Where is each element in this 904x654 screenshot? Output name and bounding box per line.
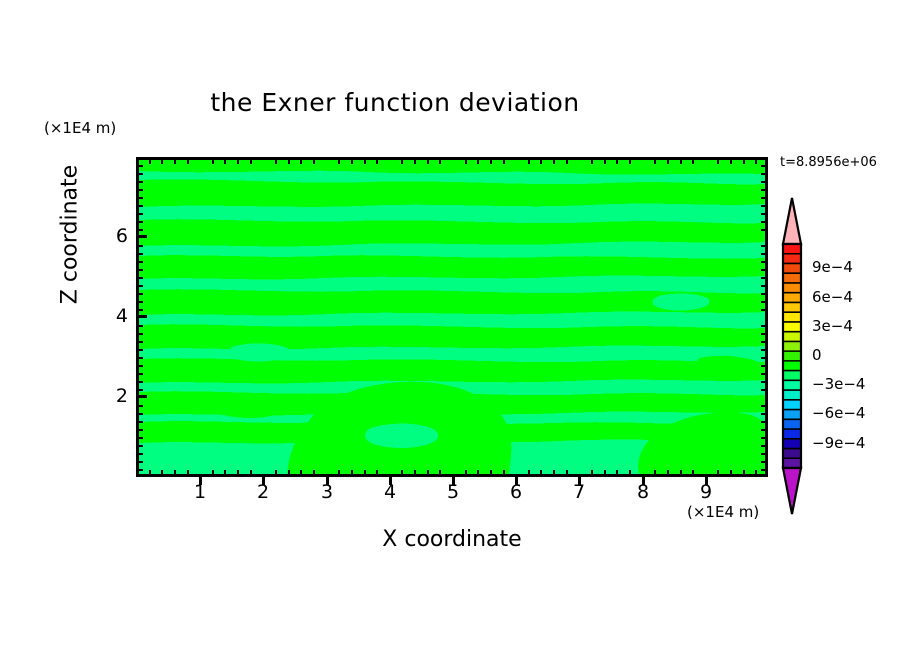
- x-tick-minor: [288, 157, 290, 164]
- x-tick-minor: [503, 157, 505, 164]
- y-tick-minor: [136, 173, 143, 175]
- x-tick-minor: [566, 470, 568, 477]
- x-tick-minor: [376, 157, 378, 164]
- x-tick-minor: [237, 157, 239, 164]
- x-tick-minor: [755, 470, 757, 477]
- x-tick-minor: [528, 470, 530, 477]
- x-tick-minor: [755, 157, 757, 164]
- y-tick-minor: [761, 253, 768, 255]
- x-tick-label: 8: [623, 481, 663, 503]
- x-tick-minor: [275, 157, 277, 164]
- y-tick-minor: [136, 245, 143, 247]
- x-tick-minor: [338, 470, 340, 477]
- y-tick-minor: [136, 381, 143, 383]
- colorbar-band: [783, 410, 801, 420]
- x-tick-minor: [149, 157, 151, 164]
- colorbar[interactable]: [781, 196, 803, 516]
- x-tick-minor: [680, 470, 682, 477]
- x-tick-minor: [427, 470, 429, 477]
- colorbar-band: [783, 322, 801, 332]
- colorbar-band: [783, 263, 801, 273]
- y-tick-minor: [136, 469, 143, 471]
- y-tick-minor: [761, 437, 768, 439]
- x-tick-minor: [237, 470, 239, 477]
- colorbar-over-arrow: [783, 198, 801, 244]
- colorbar-band: [783, 371, 801, 381]
- x-tick-minor: [654, 470, 656, 477]
- y-tick-minor: [761, 357, 768, 359]
- colorbar-band: [783, 380, 801, 390]
- x-tick-minor: [743, 470, 745, 477]
- y-tick-minor: [761, 413, 768, 415]
- y-tick-minor: [761, 453, 768, 455]
- y-tick-minor: [761, 309, 768, 311]
- y-tick-minor: [761, 381, 768, 383]
- y-tick-minor: [136, 277, 143, 279]
- x-tick-minor: [288, 470, 290, 477]
- y-tick-minor: [761, 277, 768, 279]
- colorbar-band: [783, 341, 801, 351]
- y-tick-minor: [136, 229, 143, 231]
- x-tick-minor: [313, 157, 315, 164]
- x-tick-minor: [503, 470, 505, 477]
- y-tick-minor: [761, 181, 768, 183]
- y-tick-label: 2: [88, 385, 128, 407]
- y-tick-minor: [761, 405, 768, 407]
- y-tick-minor: [136, 341, 143, 343]
- y-tick-minor: [761, 221, 768, 223]
- y-tick-minor: [136, 261, 143, 263]
- y-tick-minor: [761, 205, 768, 207]
- colorbar-band: [783, 293, 801, 303]
- y-tick-minor: [136, 413, 143, 415]
- y-tick-minor: [761, 373, 768, 375]
- y-tick-minor: [136, 389, 143, 391]
- colorbar-band: [783, 361, 801, 371]
- x-tick-minor: [477, 157, 479, 164]
- colorbar-tick-label: 3e−4: [812, 317, 853, 335]
- x-tick-minor: [528, 157, 530, 164]
- x-tick-minor: [692, 157, 694, 164]
- colorbar-band: [783, 449, 801, 459]
- y-tick-minor: [761, 229, 768, 231]
- x-tick-label: 6: [496, 481, 536, 503]
- y-tick-minor: [136, 445, 143, 447]
- x-tick-minor: [300, 470, 302, 477]
- x-tick-label: 7: [559, 481, 599, 503]
- colorbar-band: [783, 332, 801, 342]
- colorbar-band: [783, 400, 801, 410]
- x-tick-minor: [680, 157, 682, 164]
- x-tick-minor: [465, 470, 467, 477]
- x-tick-minor: [654, 157, 656, 164]
- y-tick-minor: [136, 373, 143, 375]
- x-tick-minor: [629, 470, 631, 477]
- y-tick-minor: [761, 245, 768, 247]
- x-tick-minor: [364, 470, 366, 477]
- x-tick-minor: [149, 470, 151, 477]
- x-tick-minor: [338, 157, 340, 164]
- x-tick-minor: [414, 470, 416, 477]
- x-tick-minor: [174, 470, 176, 477]
- y-tick-minor: [136, 205, 143, 207]
- x-tick-minor: [187, 470, 189, 477]
- y-tick-minor: [761, 365, 768, 367]
- x-tick-minor: [224, 470, 226, 477]
- x-tick-minor: [667, 470, 669, 477]
- y-tick-minor: [761, 421, 768, 423]
- y-tick-minor: [136, 213, 143, 215]
- y-tick-minor: [761, 325, 768, 327]
- x-tick-minor: [351, 157, 353, 164]
- x-tick-minor: [174, 157, 176, 164]
- y-tick-minor: [136, 461, 143, 463]
- y-tick-minor: [761, 469, 768, 471]
- x-tick-minor: [540, 157, 542, 164]
- x-tick-minor: [616, 470, 618, 477]
- y-axis-title: Z coordinate: [58, 135, 83, 335]
- x-tick-minor: [604, 157, 606, 164]
- colorbar-tick-label: 0: [812, 346, 822, 364]
- x-tick-minor: [692, 470, 694, 477]
- x-tick-minor: [591, 157, 593, 164]
- y-tick-minor: [136, 293, 143, 295]
- colorbar-tick-label: −3e−4: [812, 375, 865, 393]
- x-tick-minor: [553, 157, 555, 164]
- y-tick-minor: [136, 197, 143, 199]
- y-tick-minor: [761, 165, 768, 167]
- x-tick-minor: [540, 470, 542, 477]
- colorbar-band: [783, 390, 801, 400]
- x-tick-minor: [376, 470, 378, 477]
- x-tick-minor: [717, 157, 719, 164]
- x-axis-title: X coordinate: [136, 527, 768, 552]
- y-tick-minor: [136, 429, 143, 431]
- colorbar-tick-label: 9e−4: [812, 258, 853, 276]
- colorbar-band: [783, 244, 801, 254]
- x-tick-label: 4: [370, 481, 410, 503]
- x-tick-minor: [490, 157, 492, 164]
- y-tick-minor: [761, 461, 768, 463]
- colorbar-tick-label: −6e−4: [812, 404, 865, 422]
- y-tick-minor: [761, 285, 768, 287]
- y-tick-minor: [761, 293, 768, 295]
- y-tick-minor: [136, 365, 143, 367]
- x-axis-unit-label: (×1E4 m): [687, 503, 759, 521]
- x-tick-minor: [161, 470, 163, 477]
- colorbar-under-arrow: [783, 468, 801, 514]
- x-tick-minor: [465, 157, 467, 164]
- y-tick-minor: [136, 189, 143, 191]
- y-tick-minor: [136, 453, 143, 455]
- y-tick-minor: [761, 429, 768, 431]
- time-annotation: t=8.8956e+06: [780, 155, 877, 170]
- x-tick-minor: [743, 157, 745, 164]
- y-tick-minor: [761, 349, 768, 351]
- y-tick-minor: [136, 269, 143, 271]
- colorbar-band: [783, 273, 801, 283]
- x-tick-minor: [212, 157, 214, 164]
- x-tick-minor: [313, 470, 315, 477]
- x-tick-minor: [591, 470, 593, 477]
- y-tick-minor: [761, 333, 768, 335]
- colorbar-scale: [781, 196, 803, 516]
- figure-canvas: the Exner function deviation (×1E4 m) t=…: [0, 0, 904, 654]
- x-tick-minor: [401, 157, 403, 164]
- x-tick-minor: [477, 470, 479, 477]
- y-tick-minor: [761, 261, 768, 263]
- colorbar-band: [783, 283, 801, 293]
- y-tick-minor: [761, 189, 768, 191]
- colorbar-band: [783, 351, 801, 361]
- x-tick-minor: [401, 470, 403, 477]
- x-tick-minor: [717, 470, 719, 477]
- page-title: the Exner function deviation: [0, 88, 790, 117]
- y-tick-minor: [136, 165, 143, 167]
- y-tick-minor: [761, 301, 768, 303]
- y-tick-label: 6: [88, 225, 128, 247]
- y-tick-minor: [761, 197, 768, 199]
- x-tick-label: 9: [686, 481, 726, 503]
- x-tick-minor: [427, 157, 429, 164]
- x-tick-minor: [490, 470, 492, 477]
- colorbar-band: [783, 254, 801, 264]
- x-tick-minor: [300, 157, 302, 164]
- colorbar-band: [783, 429, 801, 439]
- contour-field: [139, 160, 765, 474]
- y-tick-minor: [136, 333, 143, 335]
- x-tick-minor: [616, 157, 618, 164]
- y-tick-minor: [761, 389, 768, 391]
- y-tick-minor: [761, 445, 768, 447]
- y-tick-minor: [136, 301, 143, 303]
- x-tick-minor: [161, 157, 163, 164]
- x-tick-minor: [250, 157, 252, 164]
- x-tick-minor: [566, 157, 568, 164]
- x-tick-minor: [212, 470, 214, 477]
- y-tick-minor: [761, 173, 768, 175]
- x-tick-minor: [730, 157, 732, 164]
- x-tick-minor: [250, 470, 252, 477]
- x-tick-minor: [439, 470, 441, 477]
- y-tick-label: 4: [88, 305, 128, 327]
- y-tick-major: [136, 315, 147, 318]
- x-tick-minor: [629, 157, 631, 164]
- colorbar-band: [783, 439, 801, 449]
- x-tick-minor: [730, 470, 732, 477]
- y-tick-major: [136, 395, 147, 398]
- colorbar-band: [783, 312, 801, 322]
- x-tick-minor: [604, 470, 606, 477]
- x-tick-minor: [351, 470, 353, 477]
- colorbar-band: [783, 458, 801, 468]
- x-tick-label: 2: [243, 481, 283, 503]
- y-tick-minor: [136, 421, 143, 423]
- x-tick-label: 1: [180, 481, 220, 503]
- colorbar-band: [783, 419, 801, 429]
- x-tick-minor: [275, 470, 277, 477]
- y-tick-minor: [136, 309, 143, 311]
- x-tick-label: 3: [307, 481, 347, 503]
- y-tick-minor: [136, 325, 143, 327]
- y-tick-minor: [761, 213, 768, 215]
- y-tick-minor: [136, 253, 143, 255]
- y-tick-minor: [136, 405, 143, 407]
- y-tick-minor: [136, 349, 143, 351]
- x-tick-label: 5: [433, 481, 473, 503]
- y-tick-minor: [136, 437, 143, 439]
- x-tick-minor: [187, 157, 189, 164]
- y-tick-major: [136, 235, 147, 238]
- colorbar-tick-label: −9e−4: [812, 434, 865, 452]
- y-tick-minor: [136, 181, 143, 183]
- y-tick-minor: [136, 285, 143, 287]
- y-tick-minor: [761, 269, 768, 271]
- x-tick-minor: [364, 157, 366, 164]
- colorbar-tick-label: 6e−4: [812, 288, 853, 306]
- y-tick-minor: [136, 357, 143, 359]
- x-tick-minor: [414, 157, 416, 164]
- x-tick-minor: [439, 157, 441, 164]
- x-tick-minor: [667, 157, 669, 164]
- x-tick-minor: [224, 157, 226, 164]
- colorbar-band: [783, 302, 801, 312]
- y-tick-minor: [761, 341, 768, 343]
- x-tick-minor: [553, 470, 555, 477]
- y-tick-minor: [136, 221, 143, 223]
- contour-plot-panel[interactable]: [136, 157, 768, 477]
